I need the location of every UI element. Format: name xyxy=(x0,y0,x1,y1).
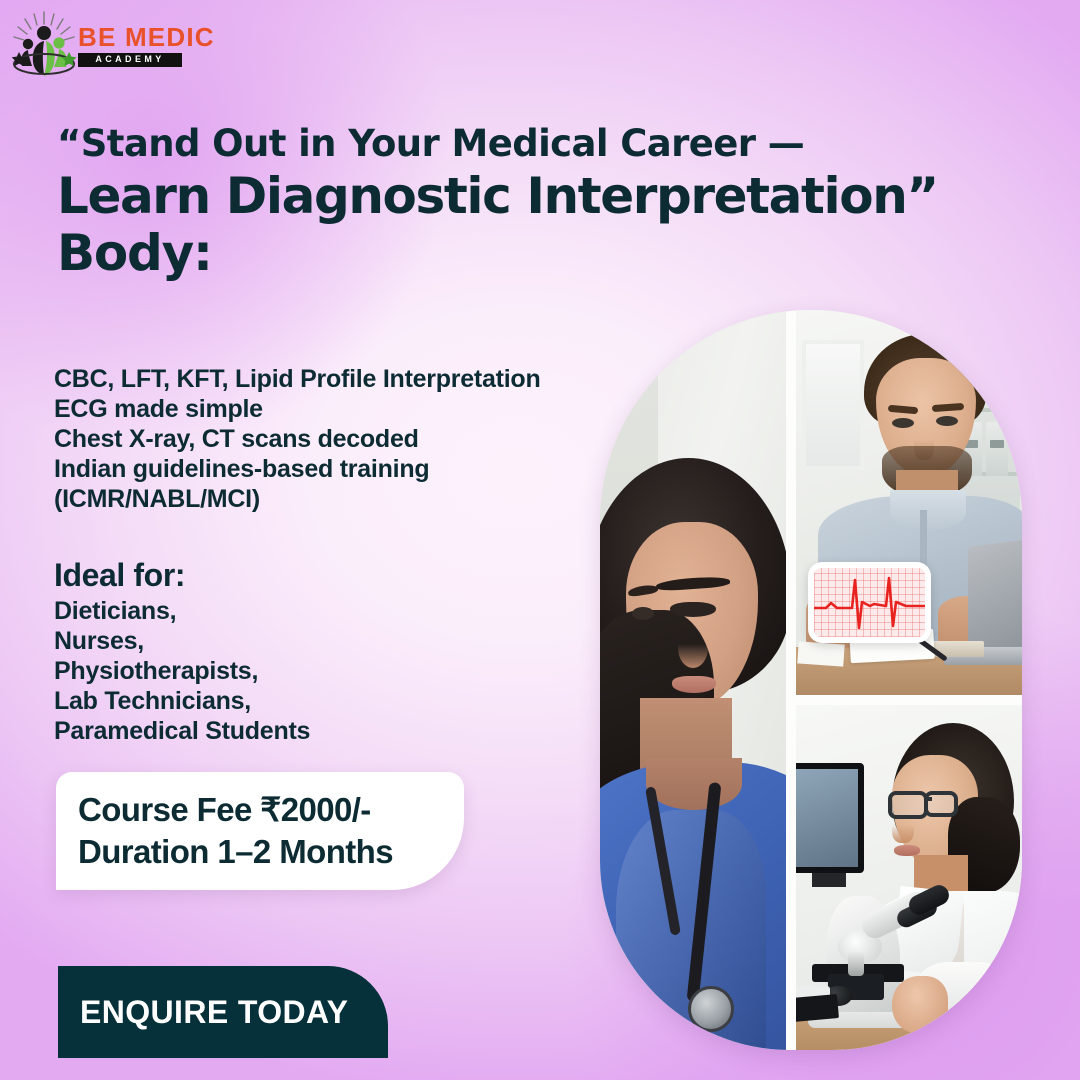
slide-box xyxy=(796,994,839,1022)
nurse-eye-left xyxy=(632,607,654,620)
nurse-nose xyxy=(678,628,708,668)
ideal-for-title: Ideal for: xyxy=(54,556,310,594)
eyeglasses-lens-right xyxy=(924,791,958,817)
collage-panel-man-laptop xyxy=(796,310,1022,695)
feature-item: CBC, LFT, KFT, Lipid Profile Interpretat… xyxy=(54,364,540,394)
nurse-lips xyxy=(672,676,716,693)
headline-block: “Stand Out in Your Medical Career — Lear… xyxy=(57,124,937,281)
ecg-waveform-icon xyxy=(814,568,925,637)
feature-item: (ICMR/NABL/MCI) xyxy=(54,484,540,514)
feature-item: Chest X-ray, CT scans decoded xyxy=(54,424,540,454)
course-fee-line: Course Fee ₹2000/- xyxy=(78,789,464,831)
man-shirt-collar xyxy=(890,490,966,530)
brand-sub-bar: ACADEMY xyxy=(78,53,182,67)
brand-wordmark: BE MEDIC ACADEMY xyxy=(78,24,215,67)
brand-logo[interactable]: BE MEDIC ACADEMY xyxy=(6,6,246,86)
feature-list: CBC, LFT, KFT, Lipid Profile Interpretat… xyxy=(54,364,540,514)
ideal-for-item: Physiotherapists, xyxy=(54,656,310,686)
feature-item: Indian guidelines-based training xyxy=(54,454,540,484)
course-duration-line: Duration 1–2 Months xyxy=(78,831,464,873)
eyeglasses-bridge xyxy=(924,797,932,801)
nurse-collarbone xyxy=(646,758,742,810)
feature-item: ECG made simple xyxy=(54,394,540,424)
lab-monitor-stand xyxy=(812,873,846,887)
lab-monitor xyxy=(796,763,864,873)
poster-canvas: BE MEDIC ACADEMY “Stand Out in Your Medi… xyxy=(0,0,1080,1080)
photo-collage: BG xyxy=(600,310,1022,1050)
shelf-binder xyxy=(986,422,1008,476)
man-eye-left xyxy=(892,418,914,428)
laptop-screen xyxy=(968,539,1022,657)
brand-sub: ACADEMY xyxy=(95,55,164,64)
collage-divider-horizontal xyxy=(796,695,1022,705)
office-window xyxy=(802,340,864,470)
eyeglasses-lens-left xyxy=(888,791,928,819)
course-fee-card: Course Fee ₹2000/- Duration 1–2 Months xyxy=(56,772,464,890)
ideal-for-block: Ideal for: Dieticians, Nurses, Physiothe… xyxy=(54,556,310,746)
loose-paper xyxy=(797,641,844,666)
ideal-for-item: Lab Technicians, xyxy=(54,686,310,716)
headline-line-3: Body: xyxy=(57,225,937,281)
lab-monitor-screen xyxy=(796,769,858,867)
brand-name: BE MEDIC xyxy=(78,24,215,50)
enquire-today-button[interactable]: ENQUIRE TODAY xyxy=(58,966,388,1058)
stethoscope-chestpiece xyxy=(688,986,734,1032)
collage-divider-vertical xyxy=(786,310,796,1050)
people-sunburst-logo-icon xyxy=(6,6,82,82)
nurse-eye-right xyxy=(670,602,716,617)
technician-nose xyxy=(892,815,914,843)
ideal-for-item: Dieticians, xyxy=(54,596,310,626)
headline-line-1: “Stand Out in Your Medical Career — xyxy=(57,124,937,163)
ideal-for-item: Paramedical Students xyxy=(54,716,310,746)
headline-line-2: Learn Diagnostic Interpretation” xyxy=(57,168,937,224)
technician-hand xyxy=(892,976,948,1034)
collage-panel-nurse: BG xyxy=(600,310,786,1050)
collage-panel-microscope xyxy=(796,705,1022,1050)
ideal-for-item: Nurses, xyxy=(54,626,310,656)
ecg-overlay-card xyxy=(808,562,931,643)
enquire-today-label: ENQUIRE TODAY xyxy=(58,994,348,1031)
microscope-objective-lens xyxy=(848,952,864,976)
man-eye-right xyxy=(936,416,958,426)
